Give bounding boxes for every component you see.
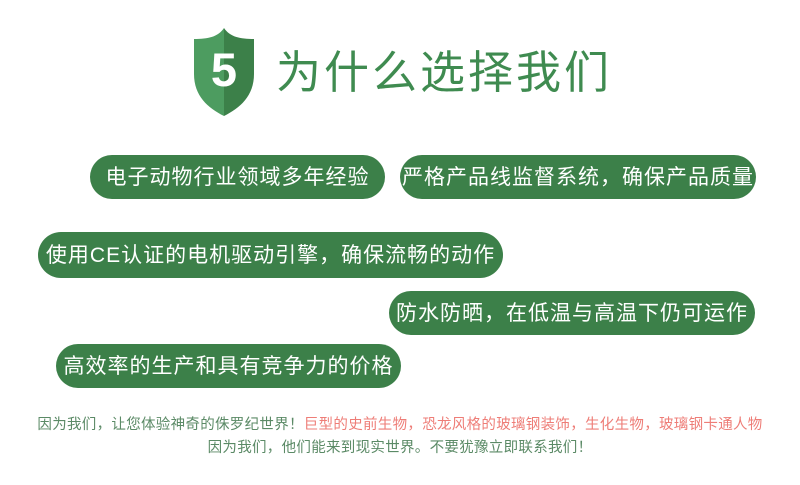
feature-pill-2: 严格产品线监督系统，确保产品质量 bbox=[400, 155, 756, 199]
feature-pill-2-label: 严格产品线监督系统，确保产品质量 bbox=[402, 167, 754, 188]
page-header: 5 为什么选择我们 bbox=[0, 22, 800, 122]
feature-pill-5-label: 高效率的生产和具有竞争力的价格 bbox=[64, 356, 394, 377]
feature-pill-1: 电子动物行业领域多年经验 bbox=[90, 155, 385, 199]
footer-line-1-part-1: 因为我们，让您体验神奇的侏罗纪世界！ bbox=[37, 417, 303, 433]
promo-page: 5 为什么选择我们 电子动物行业领域多年经验 严格产品线监督系统，确保产品质量 … bbox=[0, 0, 800, 485]
shield-badge: 5 bbox=[188, 26, 260, 118]
feature-pill-1-label: 电子动物行业领域多年经验 bbox=[106, 167, 370, 188]
shield-number: 5 bbox=[188, 26, 260, 118]
feature-pill-5: 高效率的生产和具有竞争力的价格 bbox=[56, 344, 401, 388]
footer-line-1: 因为我们，让您体验神奇的侏罗纪世界！巨型的史前生物，恐龙风格的玻璃钢装饰，生化生… bbox=[0, 414, 800, 437]
footer-text: 因为我们，让您体验神奇的侏罗纪世界！巨型的史前生物，恐龙风格的玻璃钢装饰，生化生… bbox=[0, 414, 800, 460]
feature-pill-3-label: 使用CE认证的电机驱动引擎，确保流畅的动作 bbox=[46, 245, 495, 266]
feature-pill-3: 使用CE认证的电机驱动引擎，确保流畅的动作 bbox=[38, 232, 503, 278]
feature-pill-4: 防水防晒，在低温与高温下仍可运作 bbox=[389, 291, 755, 335]
page-title: 为什么选择我们 bbox=[276, 50, 612, 95]
footer-line-2: 因为我们，他们能来到现实世界。不要犹豫立即联系我们！ bbox=[0, 437, 800, 460]
feature-pill-4-label: 防水防晒，在低温与高温下仍可运作 bbox=[396, 303, 748, 324]
footer-line-1-highlight: 巨型的史前生物，恐龙风格的玻璃钢装饰，生化生物，玻璃钢卡通人物 bbox=[304, 417, 763, 433]
